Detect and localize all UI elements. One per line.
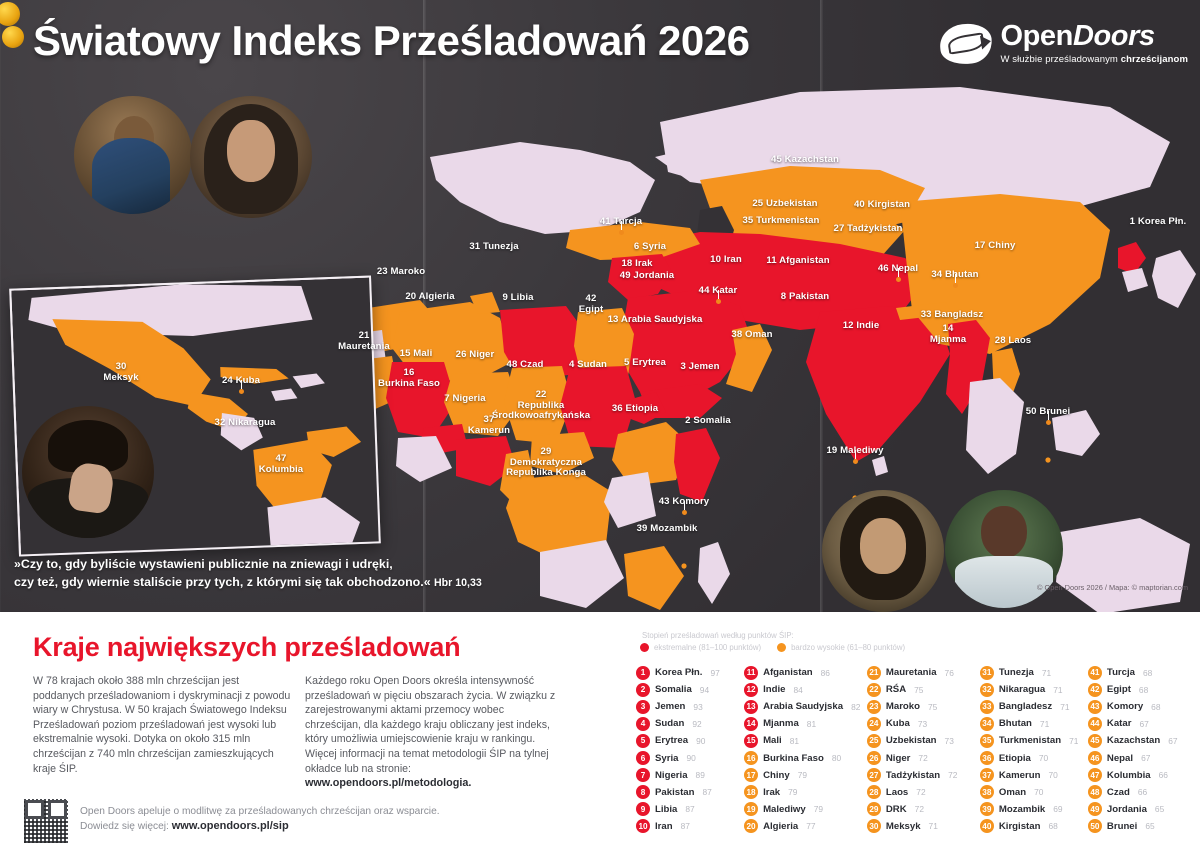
qr-code[interactable] xyxy=(24,799,68,843)
country-name: Oman xyxy=(999,787,1026,798)
page-title: Światowy Indeks Prześladowań 2026 xyxy=(33,17,749,65)
country-name: Arabia Saudyjska xyxy=(763,701,843,712)
country-score: 79 xyxy=(798,770,807,780)
photo-boy-reading xyxy=(74,96,192,214)
map-country-label-line: 20 Algieria xyxy=(405,292,454,303)
country-score: 68 xyxy=(1143,668,1152,678)
map-country-label-line: 36 Etiopia xyxy=(612,404,658,415)
ranking-item[interactable]: 12Indie84 xyxy=(744,681,867,698)
ranking-item[interactable]: 8Pakistan87 xyxy=(636,784,744,801)
country-name: Katar xyxy=(1107,718,1132,729)
ranking-item[interactable]: 33Bangladesz71 xyxy=(980,698,1088,715)
country-score: 79 xyxy=(788,787,797,797)
country-name: Uzbekistan xyxy=(886,735,937,746)
map-country-label: 16Burkina Faso xyxy=(378,368,440,389)
ranking-item[interactable]: 34Bhutan71 xyxy=(980,715,1088,732)
rank-badge: 40 xyxy=(980,819,994,833)
country-name: Kamerun xyxy=(999,770,1041,781)
ranking-item[interactable]: 20Algieria77 xyxy=(744,818,867,835)
photo-man-praying xyxy=(22,406,154,538)
country-score: 79 xyxy=(814,804,823,814)
country-score: 72 xyxy=(916,787,925,797)
country-name: Egipt xyxy=(1107,684,1131,695)
sip-link[interactable]: www.opendoors.pl/sip xyxy=(172,820,289,832)
map-country-label: 13 Arabia Saudyjska xyxy=(608,315,703,326)
country-score: 92 xyxy=(692,719,701,729)
rank-badge: 49 xyxy=(1088,802,1102,816)
country-name: Erytrea xyxy=(655,735,688,746)
ranking-item[interactable]: 48Czad66 xyxy=(1088,784,1196,801)
map-pin-icon xyxy=(896,277,901,282)
ranking-item[interactable]: 18Irak79 xyxy=(744,784,867,801)
map-country-label: 15 Mali xyxy=(400,349,433,360)
map-country-label: 7 Nigeria xyxy=(444,394,485,405)
ranking-item[interactable]: 32Nikaragua71 xyxy=(980,681,1088,698)
map-country-label-line: 17 Chiny xyxy=(975,241,1016,252)
country-score: 71 xyxy=(1053,685,1062,695)
country-name: Mjanma xyxy=(763,718,799,729)
country-name: Nikaragua xyxy=(999,684,1045,695)
ranking-item[interactable]: 6Syria90 xyxy=(636,749,744,766)
map-country-label: 31 Tunezja xyxy=(469,242,518,253)
quote-line-1: »Czy to, gdy byliście wystawieni publicz… xyxy=(14,556,634,574)
map-country-label-line: 42 xyxy=(579,294,603,305)
ranking-item[interactable]: 26Niger72 xyxy=(867,749,980,766)
ranking-item[interactable]: 13Arabia Saudyjska82 xyxy=(744,698,867,715)
ranking-column: 41Turcja6842Egipt6843Komory6844Katar6745… xyxy=(1088,664,1196,835)
map-pin-icon xyxy=(716,299,721,304)
map-country-label-line: 47 xyxy=(259,454,304,465)
rank-badge: 4 xyxy=(636,717,650,731)
ranking-item[interactable]: 4Sudan92 xyxy=(636,715,744,732)
map-country-label-line: 3 Jemen xyxy=(680,362,719,373)
rank-badge: 13 xyxy=(744,700,758,714)
ranking-item[interactable]: 11Afganistan86 xyxy=(744,664,867,681)
country-score: 71 xyxy=(1040,719,1049,729)
country-score: 72 xyxy=(915,804,924,814)
map-country-label: 49 Jordania xyxy=(620,271,674,282)
ranking-list: 1Korea Płn.972Somalia943Jemen934Sudan925… xyxy=(636,664,1196,835)
country-score: 87 xyxy=(702,787,711,797)
pushpin-top-left-a xyxy=(0,2,20,26)
ranking-item[interactable]: 16Burkina Faso80 xyxy=(744,749,867,766)
rank-badge: 29 xyxy=(867,802,881,816)
logo-word-open: Open xyxy=(1000,20,1073,52)
poster-root: 45 Kazachstan25 Uzbekistan40 Kirgistan35… xyxy=(0,0,1200,861)
rank-badge: 50 xyxy=(1088,819,1102,833)
ranking-item[interactable]: 25Uzbekistan73 xyxy=(867,732,980,749)
rank-badge: 44 xyxy=(1088,717,1102,731)
map-country-label: 27 Tadżykistan xyxy=(834,224,903,235)
map-country-label-line: Republika Konga xyxy=(506,468,586,479)
country-score: 65 xyxy=(1145,821,1154,831)
map-country-label: 20 Algieria xyxy=(405,292,454,303)
logo-tagline-bold: chrześcijanom xyxy=(1121,54,1188,65)
map-country-label: 21Mauretania xyxy=(338,331,390,352)
logo-wordmark: OpenDoors xyxy=(1000,22,1188,51)
map-country-label-line: 37 xyxy=(468,415,510,426)
ranking-column: 21Mauretania7622RŚA7523Maroko7524Kuba732… xyxy=(867,664,980,835)
country-score: 70 xyxy=(1048,770,1057,780)
paragraph-right: Każdego roku Open Doors określa intensyw… xyxy=(305,674,557,791)
ranking-item[interactable]: 39Mozambik69 xyxy=(980,801,1088,818)
map-country-label-line: Mjanma xyxy=(930,335,966,346)
rank-badge: 39 xyxy=(980,802,994,816)
ranking-column: 1Korea Płn.972Somalia943Jemen934Sudan925… xyxy=(636,664,744,835)
country-name: Kolumbia xyxy=(1107,770,1151,781)
country-name: Sudan xyxy=(655,718,684,729)
country-name: Kazachstan xyxy=(1107,735,1160,746)
map-country-label-line: 31 Tunezja xyxy=(469,242,518,253)
rank-badge: 21 xyxy=(867,666,881,680)
ranking-item[interactable]: 41Turcja68 xyxy=(1088,664,1196,681)
country-name: Tadżykistan xyxy=(886,770,940,781)
map-country-label-line: 1 Korea Płn. xyxy=(1130,217,1187,228)
map-country-label-line: 35 Turkmenistan xyxy=(742,216,819,227)
ranking-item[interactable]: 27Tadżykistan72 xyxy=(867,767,980,784)
map-country-label: 36 Etiopia xyxy=(612,404,658,415)
map-country-label-line: 25 Uzbekistan xyxy=(752,199,817,210)
rank-badge: 10 xyxy=(636,819,650,833)
ranking-item[interactable]: 14Mjanma81 xyxy=(744,715,867,732)
map-country-label-line: 32 Nikaragua xyxy=(215,418,276,429)
map-copyright: © Open Doors 2026 / Mapa: © mapt­orian.c… xyxy=(1037,583,1188,592)
map-country-label: 42Egipt xyxy=(579,294,603,315)
country-score: 81 xyxy=(790,736,799,746)
rank-badge: 45 xyxy=(1088,734,1102,748)
footer-line-1: Open Doors apeluje o modlitwę za prześla… xyxy=(80,804,440,819)
map-country-label: 12 Indie xyxy=(843,321,880,332)
country-score: 65 xyxy=(1155,804,1164,814)
pushpin-top-left-b xyxy=(2,26,24,48)
country-score: 72 xyxy=(918,753,927,763)
map-country-label-line: 16 xyxy=(378,368,440,379)
map-country-label: 39 Mozambik xyxy=(637,524,698,535)
footer-line-2: Dowiedz się więcej: www.opendoors.pl/sip xyxy=(80,819,440,834)
legend-extreme: ekstremalne (81–100 punktów) xyxy=(640,643,761,652)
rank-badge: 20 xyxy=(744,819,758,833)
country-score: 75 xyxy=(928,702,937,712)
country-score: 97 xyxy=(710,668,719,678)
map-country-label-line: 45 Kazachstan xyxy=(771,155,839,166)
map-country-label-line: 18 Irak xyxy=(621,259,652,270)
country-name: Nigeria xyxy=(655,770,688,781)
rank-badge: 17 xyxy=(744,768,758,782)
map-country-label-line: 39 Mozambik xyxy=(637,524,698,535)
map-country-label-line: 4 Sudan xyxy=(569,360,607,371)
ranking-item[interactable]: 9Libia87 xyxy=(636,801,744,818)
country-score: 71 xyxy=(1042,668,1051,678)
ranking-column: 11Afganistan8612Indie8413Arabia Saudyjsk… xyxy=(744,664,867,835)
map-country-label: 32 Nikaragua xyxy=(215,418,276,429)
map-country-label-line: 8 Pakistan xyxy=(781,292,829,303)
country-name: Afganistan xyxy=(763,667,813,678)
ranking-item[interactable]: 24Kuba73 xyxy=(867,715,980,732)
rank-badge: 30 xyxy=(867,819,881,833)
country-score: 87 xyxy=(681,821,690,831)
rank-badge: 16 xyxy=(744,751,758,765)
ranking-item[interactable]: 49Jordania65 xyxy=(1088,801,1196,818)
map-country-label: 4 Sudan xyxy=(569,360,607,371)
country-name: Somalia xyxy=(655,684,692,695)
country-name: Laos xyxy=(886,787,908,798)
country-name: Algieria xyxy=(763,821,798,832)
ranking-item[interactable]: 44Katar67 xyxy=(1088,715,1196,732)
open-doors-fish-icon xyxy=(940,24,992,64)
map-country-label: 2 Somalia xyxy=(685,416,731,427)
rank-badge: 35 xyxy=(980,734,994,748)
country-name: Burkina Faso xyxy=(763,753,824,764)
map-country-label: 45 Kazachstan xyxy=(771,155,839,166)
rank-badge: 42 xyxy=(1088,683,1102,697)
country-score: 73 xyxy=(945,736,954,746)
ranking-item[interactable]: 7Nigeria89 xyxy=(636,767,744,784)
ranking-item[interactable]: 3Jemen93 xyxy=(636,698,744,715)
map-country-label: 10 Iran xyxy=(710,255,742,266)
legend-veryhigh-dot-icon xyxy=(777,643,786,652)
map-pin-icon xyxy=(239,389,244,394)
legend-veryhigh-label: bardzo wysokie (61–80 punktów) xyxy=(791,643,905,652)
map-country-label: 48 Czad xyxy=(507,360,544,371)
country-name: Tunezja xyxy=(999,667,1034,678)
map-pin-icon xyxy=(1046,420,1051,425)
ranking-item[interactable]: 28Laos72 xyxy=(867,784,980,801)
legend-title: Stopień prześladowań według punktów ŚIP: xyxy=(642,631,794,640)
ranking-item[interactable]: 46Nepal67 xyxy=(1088,749,1196,766)
map-pin-icon xyxy=(682,510,687,515)
ranking-item[interactable]: 36Etiopia70 xyxy=(980,749,1088,766)
map-country-label: 47Kolumbia xyxy=(259,454,304,475)
ranking-item[interactable]: 35Turkmenistan71 xyxy=(980,732,1088,749)
map-country-label: 37Kamerun xyxy=(468,415,510,436)
rank-badge: 47 xyxy=(1088,768,1102,782)
map-country-label-line: 2 Somalia xyxy=(685,416,731,427)
map-country-label-line: Meksyk xyxy=(103,373,138,384)
map-country-label-line: 28 Laos xyxy=(995,336,1031,347)
rank-badge: 46 xyxy=(1088,751,1102,765)
rank-badge: 18 xyxy=(744,785,758,799)
ranking-item[interactable]: 37Kamerun70 xyxy=(980,767,1088,784)
ranking-item[interactable]: 50Brunei65 xyxy=(1088,818,1196,835)
rank-badge: 6 xyxy=(636,751,650,765)
country-score: 67 xyxy=(1139,719,1148,729)
country-score: 72 xyxy=(948,770,957,780)
map-country-label: 40 Kirgistan xyxy=(854,200,910,211)
rank-badge: 25 xyxy=(867,734,881,748)
ranking-item[interactable]: 42Egipt68 xyxy=(1088,681,1196,698)
quote-reference: Hbr 10,33 xyxy=(434,577,482,589)
ranking-item[interactable]: 29DRK72 xyxy=(867,801,980,818)
ranking-item[interactable]: 45Kazachstan67 xyxy=(1088,732,1196,749)
methodology-link[interactable]: www.opendoors.pl/metodologia. xyxy=(305,777,471,789)
rank-badge: 37 xyxy=(980,768,994,782)
country-name: Jordania xyxy=(1107,804,1147,815)
rank-badge: 33 xyxy=(980,700,994,714)
country-score: 69 xyxy=(1053,804,1062,814)
country-score: 82 xyxy=(851,702,860,712)
country-name: Mali xyxy=(763,735,782,746)
open-doors-logo: OpenDoors W służbie prześladowanym chrze… xyxy=(940,22,1188,65)
country-name: Jemen xyxy=(655,701,685,712)
ranking-item[interactable]: 47Kolumbia66 xyxy=(1088,767,1196,784)
legend-extreme-dot-icon xyxy=(640,643,649,652)
map-country-label-line: 9 Libia xyxy=(502,293,533,304)
map-country-label-line: 11 Afganistan xyxy=(766,256,829,267)
rank-badge: 26 xyxy=(867,751,881,765)
map-country-label-line: 10 Iran xyxy=(710,255,742,266)
map-country-label: 38 Oman xyxy=(731,330,772,341)
country-name: Etiopia xyxy=(999,753,1031,764)
country-score: 90 xyxy=(696,736,705,746)
legend-veryhigh: bardzo wysokie (61–80 punktów) xyxy=(777,643,905,652)
rank-badge: 7 xyxy=(636,768,650,782)
ranking-item[interactable]: 31Tunezja71 xyxy=(980,664,1088,681)
info-panel: Kraje największych prześladowań W 78 kra… xyxy=(0,612,1200,861)
country-name: Chiny xyxy=(763,770,790,781)
country-score: 93 xyxy=(693,702,702,712)
map-country-label: 9 Libia xyxy=(502,293,533,304)
country-score: 84 xyxy=(793,685,802,695)
logo-tagline: W służbie prześladowanym chrześcijanom xyxy=(1000,55,1188,65)
map-country-label-line: 22 xyxy=(492,390,590,401)
ranking-item[interactable]: 10Iran87 xyxy=(636,818,744,835)
country-score: 71 xyxy=(929,821,938,831)
rank-badge: 19 xyxy=(744,802,758,816)
map-country-label-line: 15 Mali xyxy=(400,349,433,360)
map-country-label-line: 26 Niger xyxy=(456,350,495,361)
country-score: 68 xyxy=(1151,702,1160,712)
country-name: Irak xyxy=(763,787,780,798)
ranking-item[interactable]: 19Malediwy79 xyxy=(744,801,867,818)
country-name: Bangladesz xyxy=(999,701,1052,712)
ranking-item[interactable]: 30Meksyk71 xyxy=(867,818,980,835)
map-country-label-line: Kolumbia xyxy=(259,465,304,476)
section-heading: Kraje największych prześladowań xyxy=(33,632,460,663)
ranking-item[interactable]: 38Oman70 xyxy=(980,784,1088,801)
rank-badge: 28 xyxy=(867,785,881,799)
map-country-label: 11 Afganistan xyxy=(766,256,829,267)
rank-badge: 31 xyxy=(980,666,994,680)
country-score: 80 xyxy=(832,753,841,763)
map-country-label-line: 7 Nigeria xyxy=(444,394,485,405)
rank-badge: 41 xyxy=(1088,666,1102,680)
map-country-label: 18 Irak xyxy=(621,259,652,270)
country-score: 86 xyxy=(821,668,830,678)
paragraph-right-body: Każdego roku Open Doors określa intensyw… xyxy=(305,675,555,775)
map-country-label: 6 Syria xyxy=(634,242,666,253)
ranking-column: 31Tunezja7132Nikaragua7133Bangladesz7134… xyxy=(980,664,1088,835)
photo-woman-portrait xyxy=(190,96,312,218)
map-country-label-line: Mauretania xyxy=(338,342,390,353)
country-name: Turcja xyxy=(1107,667,1135,678)
map-country-label-line: 33 Bangladsz xyxy=(921,310,984,321)
map-country-label-line: 29 xyxy=(506,447,586,458)
legend-extreme-label: ekstremalne (81–100 punktów) xyxy=(654,643,761,652)
map-country-label-line: 5 Erytrea xyxy=(624,358,666,369)
ranking-item[interactable]: 43Komory68 xyxy=(1088,698,1196,715)
country-score: 67 xyxy=(1141,753,1150,763)
rank-badge: 43 xyxy=(1088,700,1102,714)
country-score: 70 xyxy=(1039,753,1048,763)
map-country-label-line: 30 xyxy=(103,362,138,373)
country-score: 87 xyxy=(685,804,694,814)
country-name: Bhutan xyxy=(999,718,1032,729)
map-country-label-line: 40 Kirgistan xyxy=(854,200,910,211)
map-country-label: 1 Korea Płn. xyxy=(1130,217,1187,228)
country-name: Brunei xyxy=(1107,821,1137,832)
country-name: Iran xyxy=(655,821,673,832)
map-country-label: 8 Pakistan xyxy=(781,292,829,303)
country-name: Pakistan xyxy=(655,787,694,798)
map-pin-icon xyxy=(953,283,958,288)
country-score: 76 xyxy=(945,668,954,678)
rank-badge: 24 xyxy=(867,717,881,731)
country-name: Kuba xyxy=(886,718,910,729)
rank-badge: 14 xyxy=(744,717,758,731)
map-country-label: 29DemokratycznaRepublika Konga xyxy=(506,447,586,479)
country-score: 68 xyxy=(1048,821,1057,831)
rank-badge: 5 xyxy=(636,734,650,748)
country-score: 66 xyxy=(1159,770,1168,780)
rank-badge: 23 xyxy=(867,700,881,714)
country-name: Kirgistan xyxy=(999,821,1041,832)
map-country-label: 3 Jemen xyxy=(680,362,719,373)
quote-line-2: czy też, gdy wiernie staliście przy tych… xyxy=(14,574,634,593)
paragraph-left: W 78 krajach około 388 mln chrześcijan j… xyxy=(33,674,291,776)
map-country-label-line: 21 xyxy=(338,331,390,342)
map-country-label: 30Meksyk xyxy=(103,362,138,383)
rank-badge: 3 xyxy=(636,700,650,714)
country-score: 81 xyxy=(807,719,816,729)
country-name: Maroko xyxy=(886,701,920,712)
map-country-label-line: 13 Arabia Saudyjska xyxy=(608,315,703,326)
country-name: Korea Płn. xyxy=(655,667,702,678)
ranking-item[interactable]: 1Korea Płn.97 xyxy=(636,664,744,681)
map-pin-icon xyxy=(619,230,624,235)
ranking-item[interactable]: 5Erytrea90 xyxy=(636,732,744,749)
ranking-item[interactable]: 22RŚA75 xyxy=(867,681,980,698)
country-name: DRK xyxy=(886,804,907,815)
legend: ekstremalne (81–100 punktów) bardzo wyso… xyxy=(640,643,905,652)
country-score: 90 xyxy=(686,753,695,763)
country-score: 75 xyxy=(914,685,923,695)
country-score: 94 xyxy=(700,685,709,695)
ranking-item[interactable]: 17Chiny79 xyxy=(744,767,867,784)
ranking-item[interactable]: 21Mauretania76 xyxy=(867,664,980,681)
map-country-label: 17 Chiny xyxy=(975,241,1016,252)
country-name: Syria xyxy=(655,753,678,764)
map-country-label-line: 14 xyxy=(930,324,966,335)
photo-girl-portrait xyxy=(822,490,944,612)
rank-badge: 12 xyxy=(744,683,758,697)
rank-badge: 36 xyxy=(980,751,994,765)
ranking-item[interactable]: 23Maroko75 xyxy=(867,698,980,715)
ranking-item[interactable]: 15Mali81 xyxy=(744,732,867,749)
bible-quote: »Czy to, gdy byliście wystawieni publicz… xyxy=(14,556,634,592)
rank-badge: 1 xyxy=(636,666,650,680)
country-name: Nepal xyxy=(1107,753,1133,764)
rank-badge: 8 xyxy=(636,785,650,799)
map-country-label-line: Egipt xyxy=(579,305,603,316)
country-name: Malediwy xyxy=(763,804,806,815)
map-country-label-line: 23 Maroko xyxy=(377,267,425,278)
map-country-label: 35 Turkmenistan xyxy=(742,216,819,227)
country-name: Komory xyxy=(1107,701,1143,712)
ranking-item[interactable]: 40Kirgistan68 xyxy=(980,818,1088,835)
country-score: 70 xyxy=(1034,787,1043,797)
rank-badge: 2 xyxy=(636,683,650,697)
ranking-item[interactable]: 2Somalia94 xyxy=(636,681,744,698)
